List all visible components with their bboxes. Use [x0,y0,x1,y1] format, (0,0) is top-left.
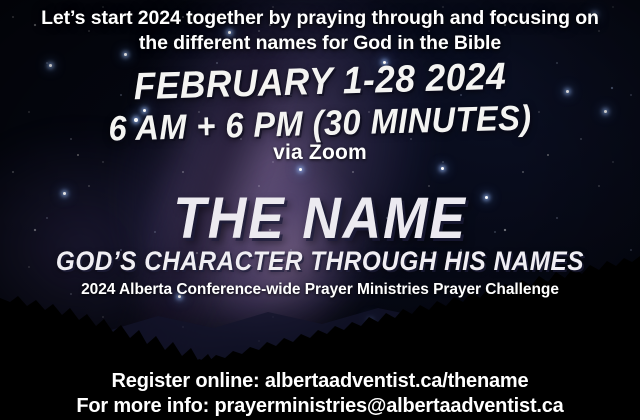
bright-star [299,168,302,171]
bright-star [49,64,52,67]
conference-line: 2024 Alberta Conference-wide Prayer Mini… [0,281,640,299]
intro-line-1: Let’s start 2024 together by praying thr… [0,6,640,31]
poster-subtitle: GOD’S CHARACTER THROUGH HIS NAMES [32,246,608,277]
register-line: Register online: albertaadventist.ca/the… [0,370,640,393]
prayer-challenge-poster: Let’s start 2024 together by praying thr… [0,0,640,420]
contact-line: For more info: prayerministries@albertaa… [0,395,640,418]
poster-title: THE NAME [26,185,615,252]
bright-star [441,167,444,170]
intro-line-2: the different names for God in the Bible [0,31,640,56]
event-platform: via Zoom [0,141,640,165]
